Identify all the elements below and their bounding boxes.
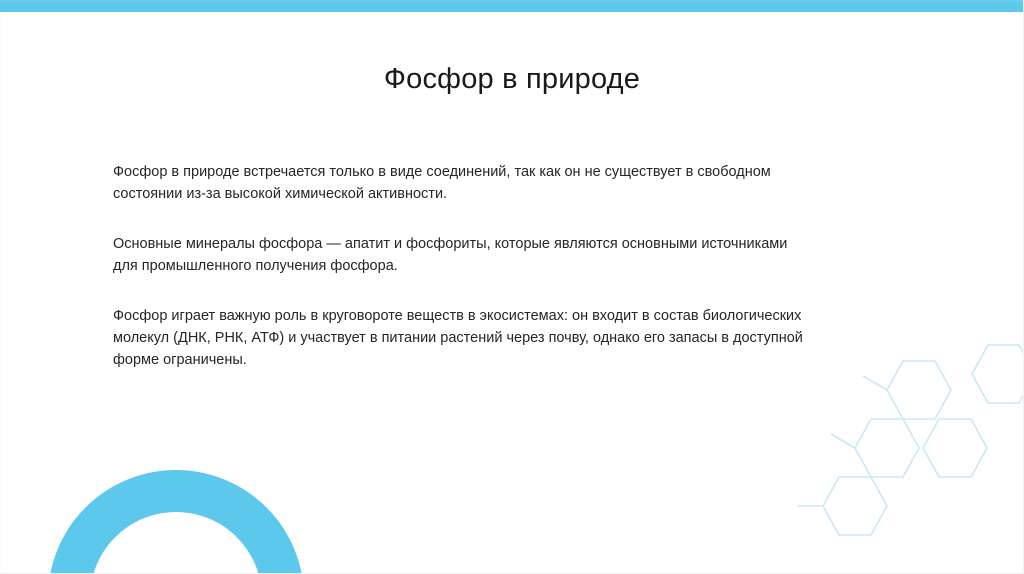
slide: Фосфор в природе Фосфор в природе встреч…	[0, 0, 1024, 574]
hexagon-upper-middle	[887, 361, 951, 419]
hexagon-top-right	[972, 345, 1023, 403]
top-accent-bar-highlight	[0, 0, 1024, 2]
page-title: Фосфор в природе	[0, 60, 1024, 98]
body-content: Фосфор в природе встречается только в ви…	[113, 161, 808, 371]
hexagon-bond-center-left	[831, 434, 855, 448]
paragraph-2: Основные минералы фосфора — апатит и фос…	[113, 233, 808, 277]
hexagon-center	[855, 419, 919, 477]
circle-arc-ring	[69, 491, 283, 573]
top-accent-bar	[0, 0, 1024, 12]
paragraph-3: Фосфор играет важную роль в круговороте …	[113, 305, 808, 371]
hexagon-right	[923, 419, 987, 477]
hexagon-lower-left	[823, 477, 887, 535]
hexagon-lattice-decoration	[783, 343, 1023, 573]
circle-arc-icon	[0, 463, 360, 573]
hexagon-lattice-icon	[783, 343, 1023, 573]
hexagon-bond-upper-left	[863, 376, 887, 390]
paragraph-1: Фосфор в природе встречается только в ви…	[113, 161, 808, 205]
circle-arc-decoration	[0, 463, 360, 573]
